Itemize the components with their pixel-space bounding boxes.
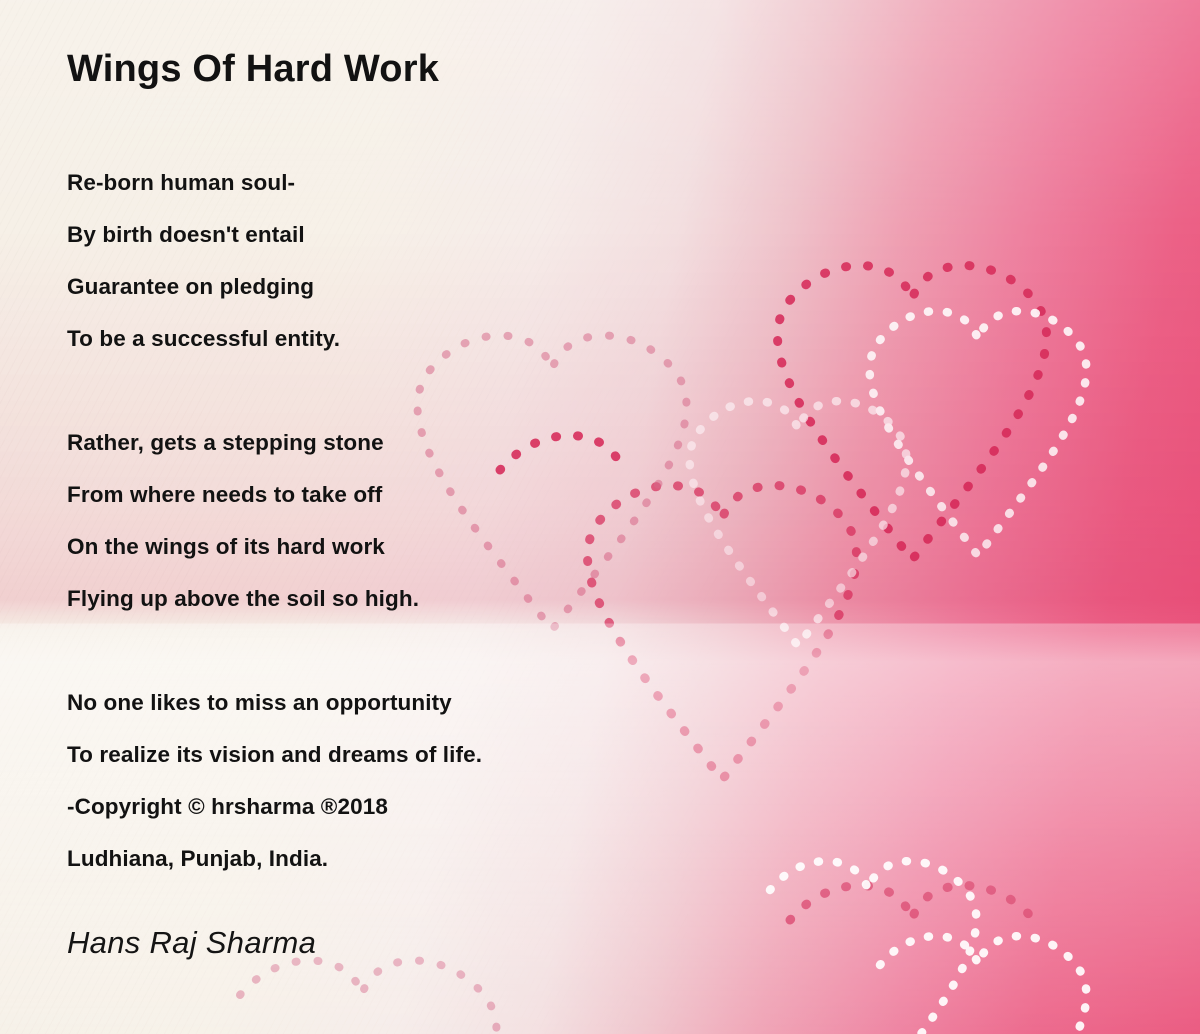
poem-line: On the wings of its hard work: [67, 521, 419, 573]
location-line: Ludhiana, Punjab, India.: [67, 833, 482, 885]
poem-line: Flying up above the soil so high.: [67, 573, 419, 625]
poem-stanza: No one likes to miss an opportunity To r…: [67, 677, 482, 885]
copyright-line: -Copyright © hrsharma ®2018: [67, 781, 482, 833]
poem-line: To realize its vision and dreams of life…: [67, 729, 482, 781]
poem-line: To be a successful entity.: [67, 313, 340, 365]
poem-card: Wings Of Hard Work Re-born human soul- B…: [0, 0, 1200, 1034]
poem-line: From where needs to take off: [67, 469, 419, 521]
page-title: Wings Of Hard Work: [67, 48, 439, 91]
poem-line: By birth doesn't entail: [67, 209, 340, 261]
poem-stanza: Re-born human soul- By birth doesn't ent…: [67, 157, 340, 365]
poem-line: Rather, gets a stepping stone: [67, 417, 419, 469]
poem-text-block: Wings Of Hard Work Re-born human soul- B…: [67, 0, 967, 1034]
poem-line: No one likes to miss an opportunity: [67, 677, 482, 729]
poem-line: Re-born human soul-: [67, 157, 340, 209]
poem-stanza: Rather, gets a stepping stone From where…: [67, 417, 419, 625]
poem-line: Guarantee on pledging: [67, 261, 340, 313]
author-name: Hans Raj Sharma: [67, 925, 316, 961]
